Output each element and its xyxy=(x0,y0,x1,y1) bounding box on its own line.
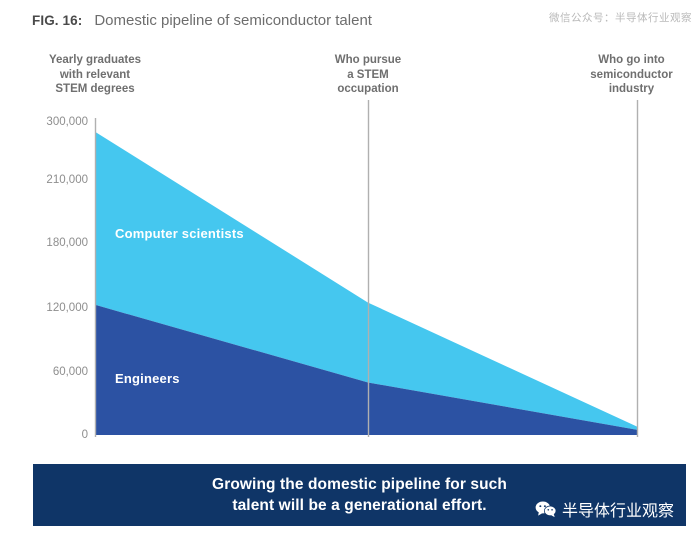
wechat-icon xyxy=(535,500,557,518)
callout-banner-text: Growing the domestic pipeline for such t… xyxy=(212,474,507,516)
chart-plot-area xyxy=(0,0,700,460)
area-chart-svg xyxy=(0,0,700,460)
series-label-computer-scientists: Computer scientists xyxy=(115,226,244,243)
watermark-bottom: 半导体行业观察 xyxy=(535,497,674,521)
figure-page: FIG. 16: Domestic pipeline of semiconduc… xyxy=(0,0,700,536)
watermark-bottom-label: 半导体行业观察 xyxy=(562,497,674,521)
series-label-engineers: Engineers xyxy=(115,371,180,388)
